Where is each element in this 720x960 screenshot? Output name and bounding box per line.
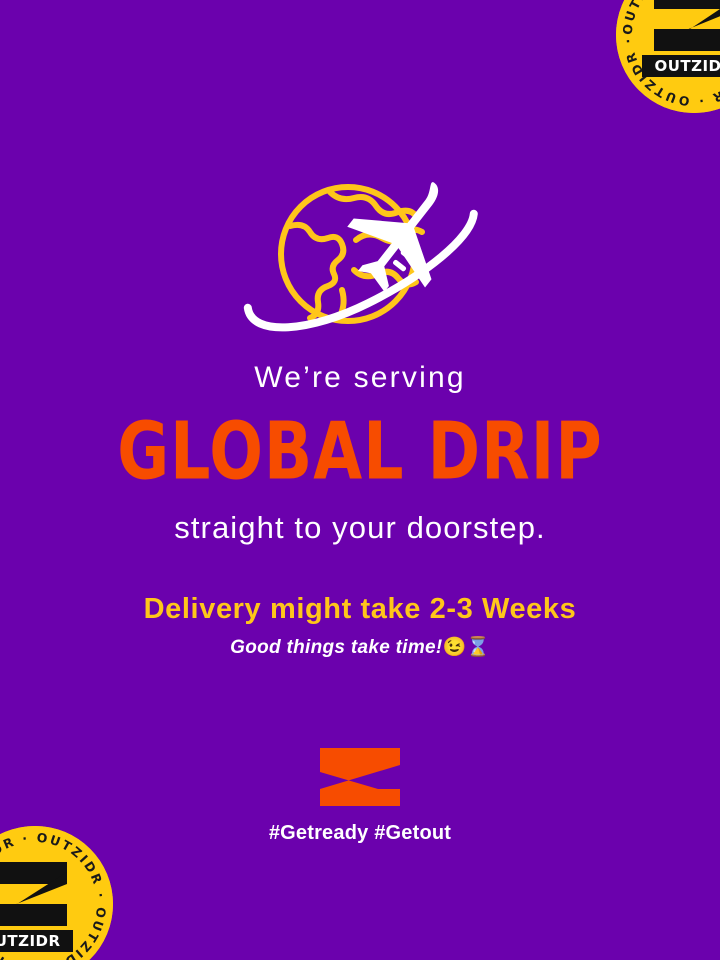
- tagline-emoji: 😉⌛: [443, 637, 490, 658]
- kicker-text: We’re serving: [0, 362, 720, 394]
- promo-poster: OUTZIDR · OUTZIDR · OUTZIDR · OUTZIDR · …: [0, 0, 720, 960]
- badge-wordmark: OUTZIDR: [642, 55, 720, 77]
- delivery-estimate-text: Delivery might take 2-3 Weeks: [0, 594, 720, 624]
- tagline-label: Good things take time!: [230, 637, 442, 658]
- outzidr-seal-badge-bottom-left: OUTZIDR · OUTZIDR · OUTZIDR · OUTZIDR · …: [0, 826, 113, 960]
- svg-text:OUTZIDR: OUTZIDR: [654, 57, 720, 75]
- tagline-text: Good things take time!😉⌛: [0, 638, 720, 658]
- svg-text:OUTZIDR: OUTZIDR: [0, 932, 61, 950]
- badge-wordmark: OUTZIDR: [0, 930, 73, 952]
- headline-text: GLOBAL DRIP: [0, 412, 720, 491]
- outzidr-z-logo-icon: [320, 748, 400, 806]
- globe-icon: [281, 187, 415, 321]
- outzidr-seal-badge-top-right: OUTZIDR · OUTZIDR · OUTZIDR · OUTZIDR · …: [616, 0, 720, 113]
- subline-text: straight to your doorstep.: [0, 512, 720, 545]
- copy-block: We’re serving GLOBAL DRIP straight to yo…: [0, 362, 720, 658]
- globe-airplane-artwork: [238, 178, 482, 336]
